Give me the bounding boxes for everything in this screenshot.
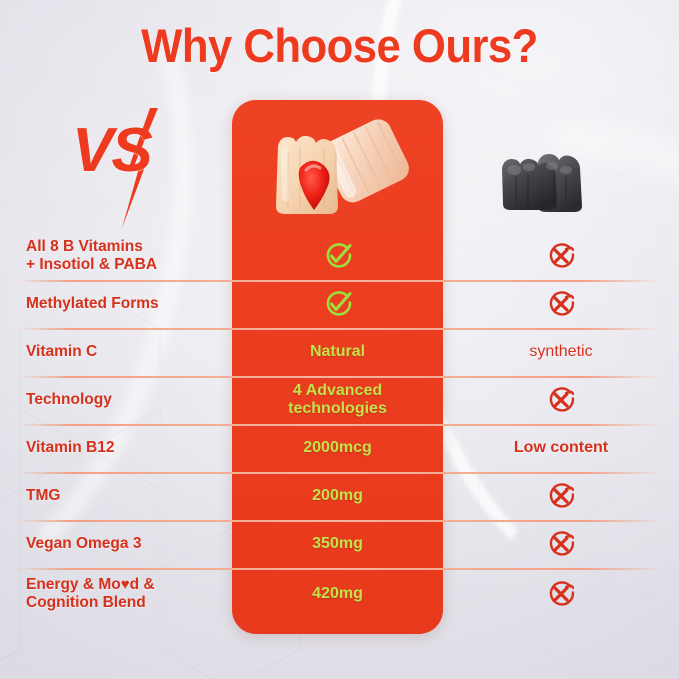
ours-value: [232, 289, 443, 319]
table-row: Technology 4 Advanced technologies: [0, 376, 679, 424]
cross-circle-icon: [546, 579, 576, 609]
theirs-value: [443, 289, 679, 319]
table-row: Energy & Mo♥d & Cognition Blend 420mg: [0, 568, 679, 620]
table-row: Vegan Omega 3 350mg: [0, 520, 679, 568]
feature-label-line2: + Insotiol & PABA: [26, 256, 157, 273]
row-separator: [18, 328, 661, 330]
table-row: TMG 200mg: [0, 472, 679, 520]
ours-value: 420mg: [232, 585, 443, 603]
feature-label-line1: All 8 B Vitamins: [26, 238, 143, 255]
feature-label: Methylated Forms: [26, 295, 226, 313]
ours-value: Natural: [232, 343, 443, 361]
table-row: Vitamin C Natural synthetic: [0, 328, 679, 376]
theirs-value: [443, 529, 679, 559]
cross-circle-icon: [546, 289, 576, 319]
cross-circle-icon: [546, 529, 576, 559]
table-row: Methylated Forms: [0, 280, 679, 328]
page-title: Why Choose Ours?: [24, 16, 655, 76]
theirs-value: [443, 385, 679, 415]
feature-label-line1-pre: Energy & Mo: [26, 576, 121, 593]
check-circle-icon: [323, 289, 353, 319]
feature-label: TMG: [26, 487, 226, 505]
feature-label: Energy & Mo♥d & Cognition Blend: [26, 576, 226, 612]
competitor-gummy-image: [494, 146, 590, 220]
theirs-value: synthetic: [443, 343, 679, 361]
ours-value: [232, 241, 443, 271]
cross-circle-icon: [546, 385, 576, 415]
feature-label: Vitamin C: [26, 343, 226, 361]
heart-icon: ♥: [121, 576, 130, 593]
row-separator: [18, 424, 661, 426]
row-separator: [18, 376, 661, 378]
theirs-value: [443, 579, 679, 609]
our-gummy-product-image: [248, 112, 428, 230]
feature-label: Vegan Omega 3: [26, 535, 226, 553]
ours-value: 4 Advanced technologies: [232, 382, 443, 418]
vs-label: VS: [72, 120, 151, 182]
row-separator: [18, 568, 661, 570]
ours-value: 200mg: [232, 487, 443, 505]
feature-label-line2: Cognition Blend: [26, 594, 146, 611]
ours-value-line1: 4 Advanced: [293, 382, 382, 399]
feature-label-line1-post: d &: [130, 576, 155, 593]
row-separator: [18, 472, 661, 474]
table-row: Vitamin B12 2000mcg Low content: [0, 424, 679, 472]
feature-label: Vitamin B12: [26, 439, 226, 457]
comparison-table: All 8 B Vitamins + Insotiol & PABA Me: [0, 232, 679, 620]
feature-label: All 8 B Vitamins + Insotiol & PABA: [26, 238, 226, 274]
ours-value-line2: technologies: [288, 400, 387, 417]
row-separator: [18, 280, 661, 282]
row-separator: [18, 520, 661, 522]
theirs-value: [443, 241, 679, 271]
ours-value: 2000mcg: [232, 439, 443, 457]
cross-circle-icon: [546, 481, 576, 511]
feature-label: Technology: [26, 391, 226, 409]
theirs-value: [443, 481, 679, 511]
theirs-value: Low content: [443, 439, 679, 457]
table-row: All 8 B Vitamins + Insotiol & PABA: [0, 232, 679, 280]
ours-value: 350mg: [232, 535, 443, 553]
cross-circle-icon: [546, 241, 576, 271]
check-circle-icon: [323, 241, 353, 271]
infographic-page: Why Choose Ours? VS: [0, 0, 679, 679]
vs-badge: VS: [64, 112, 184, 222]
